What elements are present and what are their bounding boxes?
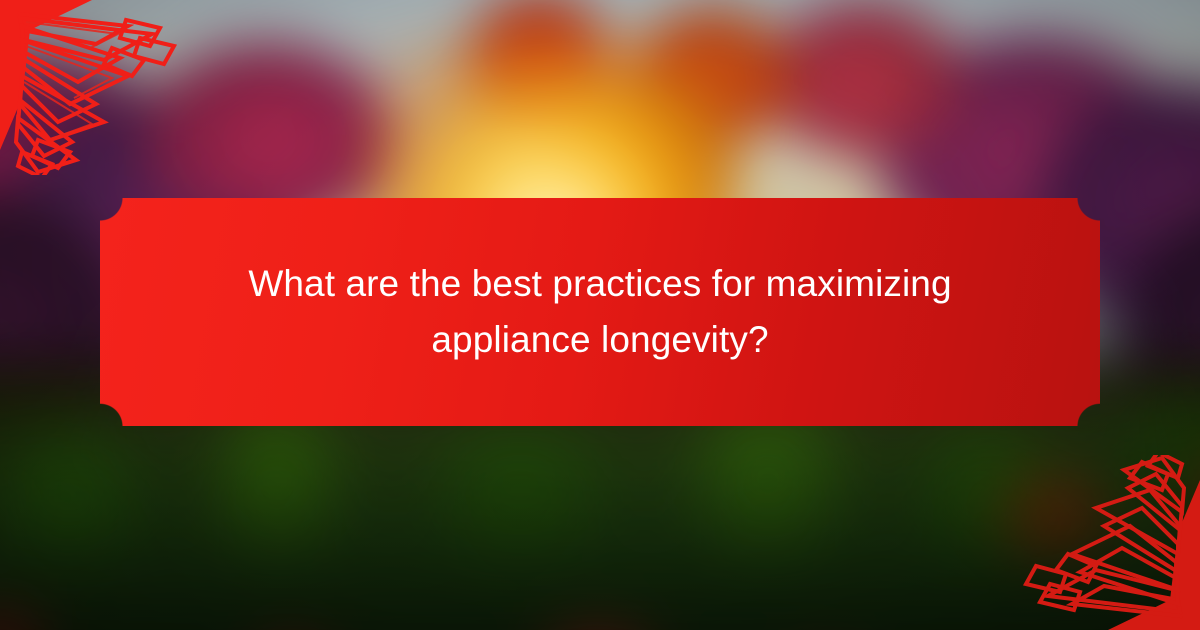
- question-card-content: What are the best practices for maximizi…: [170, 256, 1030, 368]
- question-headline: What are the best practices for maximizi…: [170, 256, 1030, 368]
- social-card-canvas: What are the best practices for maximizi…: [0, 0, 1200, 630]
- question-card: What are the best practices for maximizi…: [100, 198, 1100, 426]
